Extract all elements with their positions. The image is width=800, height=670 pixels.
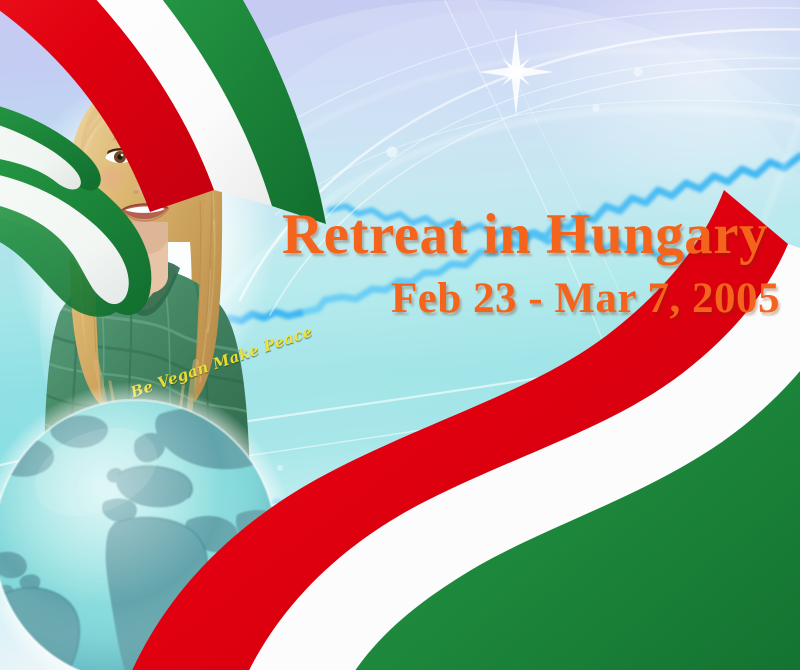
earth-globe xyxy=(0,398,278,670)
poster-canvas: Be Vegan Make Peace xyxy=(0,0,800,670)
sparkles xyxy=(277,28,666,651)
ear-right xyxy=(191,150,207,178)
globe-illustration xyxy=(0,398,278,670)
earring xyxy=(87,179,93,185)
hungary-map-outline-lower xyxy=(262,402,718,510)
event-dates: Feb 23 - Mar 7, 2005 xyxy=(282,277,788,320)
page-title: Retreat in Hungary xyxy=(282,206,788,263)
headline-block: Retreat in Hungary Feb 23 - Mar 7, 2005 xyxy=(282,206,788,320)
